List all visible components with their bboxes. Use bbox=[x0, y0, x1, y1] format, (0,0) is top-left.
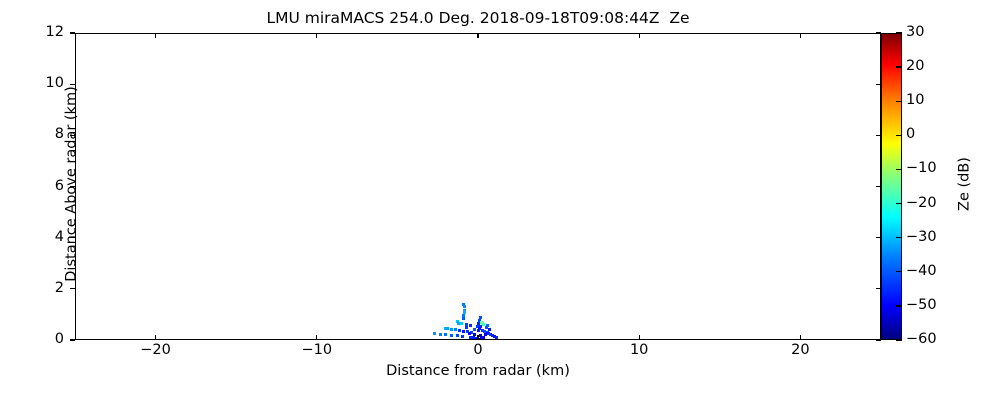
data-point bbox=[458, 329, 461, 332]
figure-canvas: LMU miraMACS 254.0 Deg. 2018-09-18T09:08… bbox=[0, 0, 1000, 400]
y-tick-label: 6 bbox=[18, 178, 64, 195]
scatter-plot-area bbox=[76, 34, 880, 339]
x-tick-top bbox=[316, 33, 317, 38]
colorbar-tick bbox=[896, 135, 902, 136]
data-point bbox=[484, 333, 487, 336]
colorbar-tick-label: −20 bbox=[906, 195, 937, 212]
x-tick-top bbox=[155, 33, 156, 38]
colorbar bbox=[881, 33, 902, 340]
colorbar-tick-label: −40 bbox=[906, 263, 937, 280]
data-point bbox=[465, 326, 468, 329]
data-point bbox=[460, 322, 463, 325]
data-point bbox=[439, 333, 442, 336]
colorbar-tick bbox=[896, 203, 902, 204]
data-point bbox=[479, 334, 482, 337]
x-tick bbox=[800, 335, 801, 340]
x-tick-top bbox=[639, 33, 640, 38]
data-point bbox=[468, 332, 471, 335]
data-point bbox=[469, 324, 472, 327]
data-point bbox=[444, 333, 447, 336]
x-tick-label: 10 bbox=[609, 342, 669, 359]
colorbar-tick bbox=[896, 101, 902, 102]
data-point bbox=[482, 323, 485, 326]
y-tick-label: 12 bbox=[18, 24, 64, 41]
data-point bbox=[479, 316, 482, 319]
data-point bbox=[488, 328, 491, 331]
data-point bbox=[462, 330, 465, 333]
y-tick-label: 8 bbox=[18, 126, 64, 143]
colorbar-tick-label: 20 bbox=[906, 58, 924, 75]
y-tick-label: 4 bbox=[18, 229, 64, 246]
data-point bbox=[473, 333, 476, 336]
x-axis-label: Distance from radar (km) bbox=[75, 363, 881, 379]
data-point bbox=[495, 336, 498, 339]
y-axis-label: Distance Above radar (km) bbox=[64, 31, 80, 338]
y-tick bbox=[70, 339, 75, 340]
colorbar-tick bbox=[896, 169, 902, 170]
x-tick-top bbox=[800, 33, 801, 38]
x-tick-label: 0 bbox=[448, 342, 508, 359]
colorbar-tick-label: 10 bbox=[906, 92, 924, 109]
colorbar-tick bbox=[896, 271, 902, 272]
x-tick bbox=[639, 335, 640, 340]
data-point bbox=[462, 317, 465, 320]
data-point bbox=[477, 329, 480, 332]
colorbar-tick-label: −10 bbox=[906, 160, 937, 177]
data-point bbox=[486, 324, 489, 327]
data-point bbox=[461, 335, 464, 338]
colorbar-tick-label: 30 bbox=[906, 24, 924, 41]
colorbar-tick-label: −60 bbox=[906, 331, 937, 348]
x-tick-label: −10 bbox=[287, 342, 347, 359]
data-point bbox=[472, 336, 475, 339]
data-point bbox=[450, 334, 453, 337]
data-point bbox=[454, 328, 457, 331]
x-tick-label: −20 bbox=[126, 342, 186, 359]
colorbar-tick bbox=[896, 339, 902, 340]
colorbar-tick-label: −30 bbox=[906, 229, 937, 246]
x-tick bbox=[155, 335, 156, 340]
plot-axes bbox=[75, 33, 881, 340]
colorbar-tick-label: −50 bbox=[906, 297, 937, 314]
x-tick-top bbox=[477, 33, 478, 38]
colorbar-label: Ze (dB) bbox=[957, 31, 973, 338]
x-tick-label: 20 bbox=[770, 342, 830, 359]
colorbar-tick bbox=[896, 32, 902, 33]
y-tick-label: 0 bbox=[18, 331, 64, 348]
data-point bbox=[446, 327, 449, 330]
colorbar-tick bbox=[896, 237, 902, 238]
x-tick bbox=[316, 335, 317, 340]
data-point bbox=[469, 336, 472, 339]
data-point bbox=[433, 332, 436, 335]
data-point bbox=[456, 334, 459, 337]
y-tick-label: 10 bbox=[18, 75, 64, 92]
page-title: LMU miraMACS 254.0 Deg. 2018-09-18T09:08… bbox=[75, 8, 881, 28]
colorbar-tick bbox=[896, 66, 902, 67]
colorbar-tick bbox=[896, 305, 902, 306]
x-tick bbox=[477, 335, 478, 340]
y-tick-label: 2 bbox=[18, 280, 64, 297]
data-point bbox=[450, 328, 453, 331]
colorbar-tick-label: 0 bbox=[906, 126, 915, 143]
